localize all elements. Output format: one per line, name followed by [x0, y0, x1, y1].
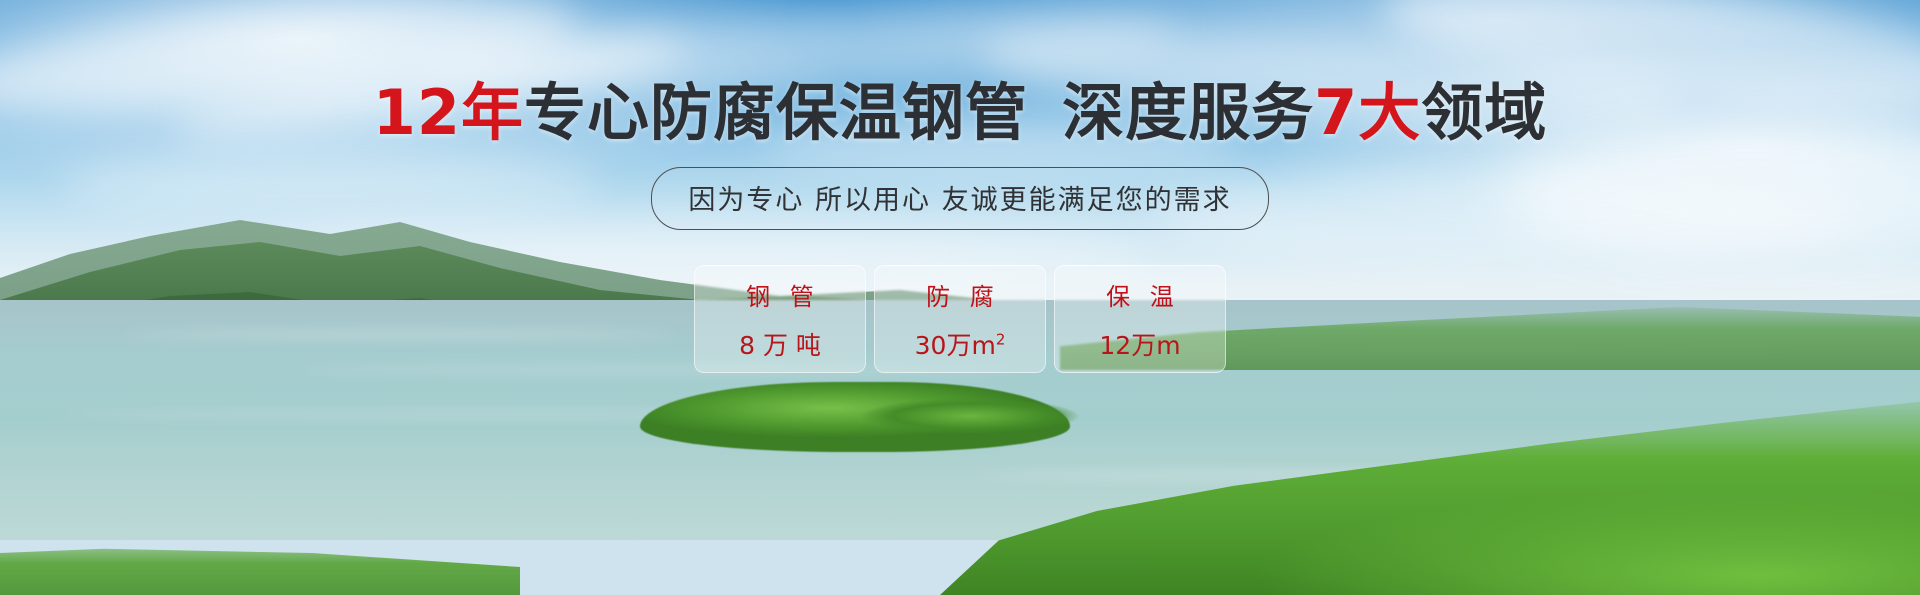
headline-service: 深度服务	[1062, 76, 1314, 149]
stat-card-anticorrosion[interactable]: 防 腐 30万m2	[874, 265, 1046, 373]
stat-card-value: 8 万 吨	[739, 326, 821, 362]
stat-card-insulation[interactable]: 保 温 12万m	[1054, 265, 1226, 373]
subtitle-pill: 因为专心 所以用心 友诚更能满足您的需求	[651, 167, 1268, 230]
stat-card-group: 钢 管 8 万 吨 防 腐 30万m2 保 温 12万m	[0, 265, 1920, 373]
subtitle-container: 因为专心 所以用心 友诚更能满足您的需求	[0, 167, 1920, 230]
stat-card-value: 30万m2	[915, 326, 1006, 362]
stat-card-steel-pipe[interactable]: 钢 管 8 万 吨	[694, 265, 866, 373]
stat-card-value-text: 30万m	[915, 331, 996, 360]
stat-card-value-sup: 2	[996, 330, 1006, 348]
stat-card-value-text: 8 万 吨	[739, 331, 821, 360]
headline-fields: 领域	[1421, 76, 1547, 149]
headline-seven: 7大	[1314, 76, 1421, 149]
stat-card-value: 12万m	[1099, 326, 1180, 362]
stat-card-title: 钢 管	[740, 277, 820, 312]
stat-card-value-text: 12万m	[1099, 331, 1180, 360]
hero-banner: 12年专心防腐保温钢管深度服务7大领域 因为专心 所以用心 友诚更能满足您的需求…	[0, 0, 1920, 595]
headline-years: 12年	[373, 76, 524, 149]
headline-main: 专心防腐保温钢管	[524, 76, 1028, 149]
banner-headline: 12年专心防腐保温钢管深度服务7大领域	[0, 82, 1920, 144]
stat-card-title: 防 腐	[920, 277, 1000, 312]
grass-island-secondary	[860, 398, 1080, 438]
stat-card-title: 保 温	[1100, 277, 1180, 312]
